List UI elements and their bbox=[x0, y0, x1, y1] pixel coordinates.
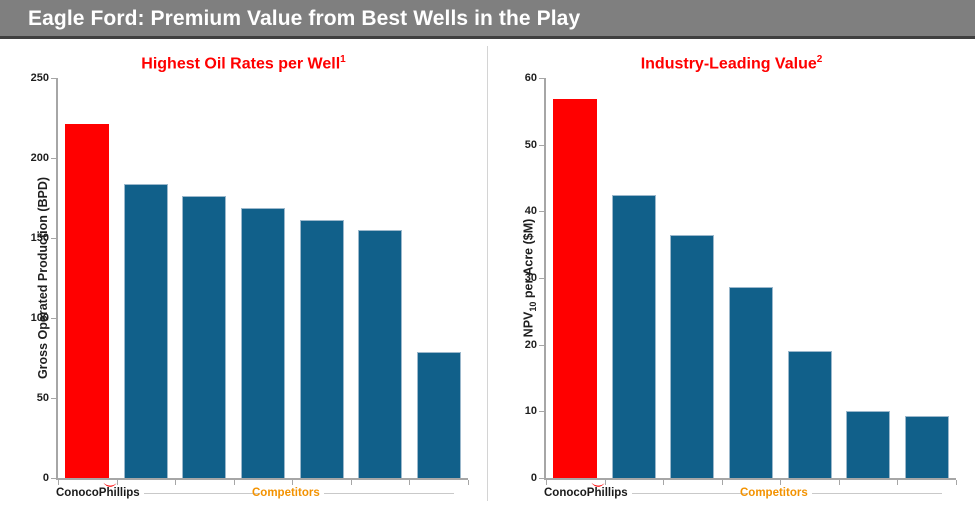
bar-competitor-2 bbox=[182, 196, 226, 478]
x-axis-left: ConocoPhillips Competitors bbox=[56, 478, 468, 505]
x-category-rule-left-1 bbox=[144, 493, 260, 494]
bar-competitor-3 bbox=[241, 208, 285, 478]
y-axis-title-left: Gross Operated Production (BPD) bbox=[36, 177, 50, 379]
x-category-rule-right-1 bbox=[632, 493, 748, 494]
y-tick-label-right-6: 60 bbox=[525, 72, 537, 84]
x-tick bbox=[839, 480, 840, 485]
bar-competitor-4 bbox=[788, 351, 832, 478]
bar-conocophillips bbox=[553, 99, 597, 478]
chart-title-right: Industry-Leading Value2 bbox=[488, 54, 975, 73]
x-axis-right: ConocoPhillips Competitors bbox=[544, 478, 956, 505]
x-tick bbox=[117, 480, 118, 485]
y-tick-label-left-4: 200 bbox=[31, 152, 49, 164]
bar-competitor-1 bbox=[612, 195, 656, 478]
x-tick bbox=[956, 480, 957, 485]
chart-title-right-footnote: 2 bbox=[817, 54, 823, 65]
y-tick-label-right-5: 50 bbox=[525, 139, 537, 151]
y-tick-label-right-0: 0 bbox=[531, 472, 537, 484]
bar-competitor-2 bbox=[670, 235, 714, 478]
x-tick bbox=[468, 480, 469, 485]
chart-title-right-text: Industry-Leading Value bbox=[641, 55, 817, 72]
x-tick bbox=[897, 480, 898, 485]
charts-area: Highest Oil Rates per Well1 Gross Operat… bbox=[0, 42, 975, 505]
x-category-rule-right-2 bbox=[812, 493, 942, 494]
plot-area-left: Gross Operated Production (BPD) 0 50 100 bbox=[56, 78, 468, 478]
x-tick bbox=[605, 480, 606, 485]
x-tick bbox=[409, 480, 410, 485]
conocophillips-label-left: ConocoPhillips bbox=[56, 487, 140, 499]
x-tick bbox=[663, 480, 664, 485]
y-tick-label-right-2: 20 bbox=[525, 339, 537, 351]
x-tick bbox=[546, 480, 547, 485]
slide: Eagle Ford: Premium Value from Best Well… bbox=[0, 0, 975, 505]
x-category-highlight-right: ConocoPhillips bbox=[544, 487, 748, 499]
bar-group-left bbox=[58, 78, 468, 478]
x-tick bbox=[58, 480, 59, 485]
bar-competitor-6 bbox=[417, 352, 461, 478]
chart-panel-oil-rates: Highest Oil Rates per Well1 Gross Operat… bbox=[0, 42, 487, 505]
slide-header: Eagle Ford: Premium Value from Best Well… bbox=[0, 0, 975, 39]
y-axis-title-right-base: NPV bbox=[522, 312, 536, 338]
y-tick-label-left-2: 100 bbox=[31, 312, 49, 324]
bar-competitor-5 bbox=[358, 230, 402, 478]
x-tick bbox=[234, 480, 235, 485]
y-tick-label-left-5: 250 bbox=[31, 72, 49, 84]
x-tick bbox=[722, 480, 723, 485]
y-axis-title-right-tail: per Acre ($M) bbox=[522, 219, 536, 302]
x-tick bbox=[351, 480, 352, 485]
x-tick bbox=[175, 480, 176, 485]
chart-title-left-text: Highest Oil Rates per Well bbox=[141, 55, 340, 72]
bar-competitor-1 bbox=[124, 184, 168, 478]
y-axis-title-right-sub: 10 bbox=[528, 302, 538, 312]
y-tick-label-right-1: 10 bbox=[525, 405, 537, 417]
x-category-label-conocophillips-left: ConocoPhillips bbox=[56, 487, 140, 499]
y-tick-label-left-1: 50 bbox=[37, 392, 49, 404]
bar-competitor-5 bbox=[846, 411, 890, 478]
bar-competitor-6 bbox=[905, 416, 949, 478]
x-category-label-competitors-right: Competitors bbox=[740, 487, 808, 499]
x-category-rule-left-2 bbox=[324, 493, 454, 494]
x-category-competitors-left: Competitors bbox=[252, 487, 454, 499]
y-tick-label-right-4: 40 bbox=[525, 205, 537, 217]
x-category-competitors-right: Competitors bbox=[740, 487, 942, 499]
plot-area-right: NPV10 per Acre ($M) 0 10 20 30 bbox=[544, 78, 956, 478]
page-title: Eagle Ford: Premium Value from Best Well… bbox=[28, 7, 580, 31]
x-category-highlight-left: ConocoPhillips bbox=[56, 487, 260, 499]
bar-group-right bbox=[546, 78, 956, 478]
x-category-label-competitors-left: Competitors bbox=[252, 487, 320, 499]
bar-competitor-4 bbox=[300, 220, 344, 478]
x-category-label-conocophillips-right: ConocoPhillips bbox=[544, 487, 628, 499]
chart-title-left-footnote: 1 bbox=[340, 54, 346, 65]
y-tick-label-right-3: 30 bbox=[525, 272, 537, 284]
chart-panel-npv-value: Industry-Leading Value2 NPV10 per Acre (… bbox=[488, 42, 975, 505]
x-tick bbox=[780, 480, 781, 485]
chart-title-left: Highest Oil Rates per Well1 bbox=[0, 54, 487, 73]
conocophillips-label-right: ConocoPhillips bbox=[544, 487, 628, 499]
bar-conocophillips bbox=[65, 124, 109, 478]
x-tick bbox=[292, 480, 293, 485]
bar-competitor-3 bbox=[729, 287, 773, 478]
y-tick-label-left-3: 150 bbox=[31, 232, 49, 244]
y-tick-label-left-0: 0 bbox=[43, 472, 49, 484]
